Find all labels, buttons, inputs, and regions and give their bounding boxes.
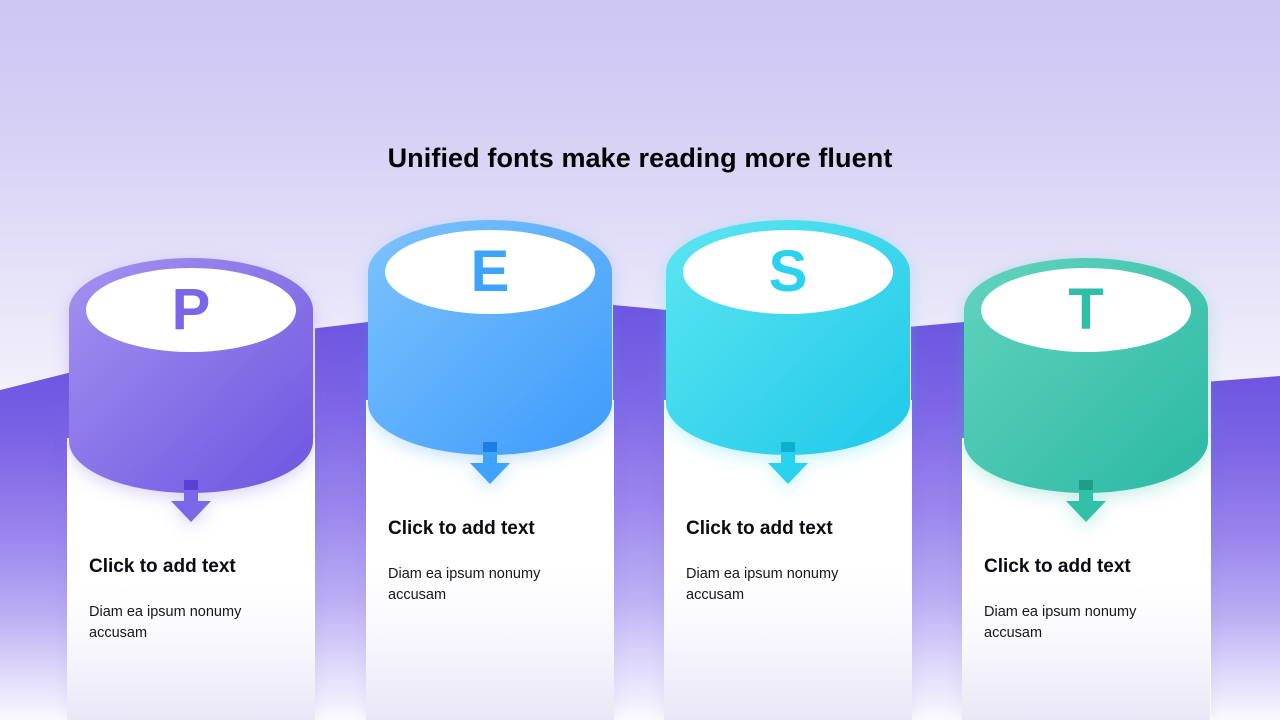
cylinder-p-shape <box>67 258 315 528</box>
card-heading: Click to add text <box>686 518 833 540</box>
cylinder-t-shape <box>962 258 1210 528</box>
background-column-5 <box>1211 376 1280 720</box>
card-body-text: Diam ea ipsum nonumy accusam <box>686 564 866 606</box>
slide-title: Unified fonts make reading more fluent <box>0 143 1280 174</box>
card-heading: Click to add text <box>89 556 236 578</box>
background-column-1 <box>0 372 72 720</box>
background-column-3 <box>613 305 667 720</box>
cylinder-t[interactable]: T <box>962 258 1210 528</box>
card-heading: Click to add text <box>984 556 1131 578</box>
background-column-2 <box>315 322 368 720</box>
cylinder-p[interactable]: P <box>67 258 315 528</box>
card-body-text: Diam ea ipsum nonumy accusam <box>984 602 1164 644</box>
card-heading: Click to add text <box>388 518 535 540</box>
cylinder-e-shape <box>366 220 614 490</box>
cylinder-s-shape <box>664 220 912 490</box>
background-column-4 <box>911 322 964 720</box>
card-body-text: Diam ea ipsum nonumy accusam <box>388 564 568 606</box>
slide-canvas: Click to add text Diam ea ipsum nonumy a… <box>0 0 1280 720</box>
cylinder-e[interactable]: E <box>366 220 614 490</box>
card-body-text: Diam ea ipsum nonumy accusam <box>89 602 269 644</box>
cylinder-s[interactable]: S <box>664 220 912 490</box>
